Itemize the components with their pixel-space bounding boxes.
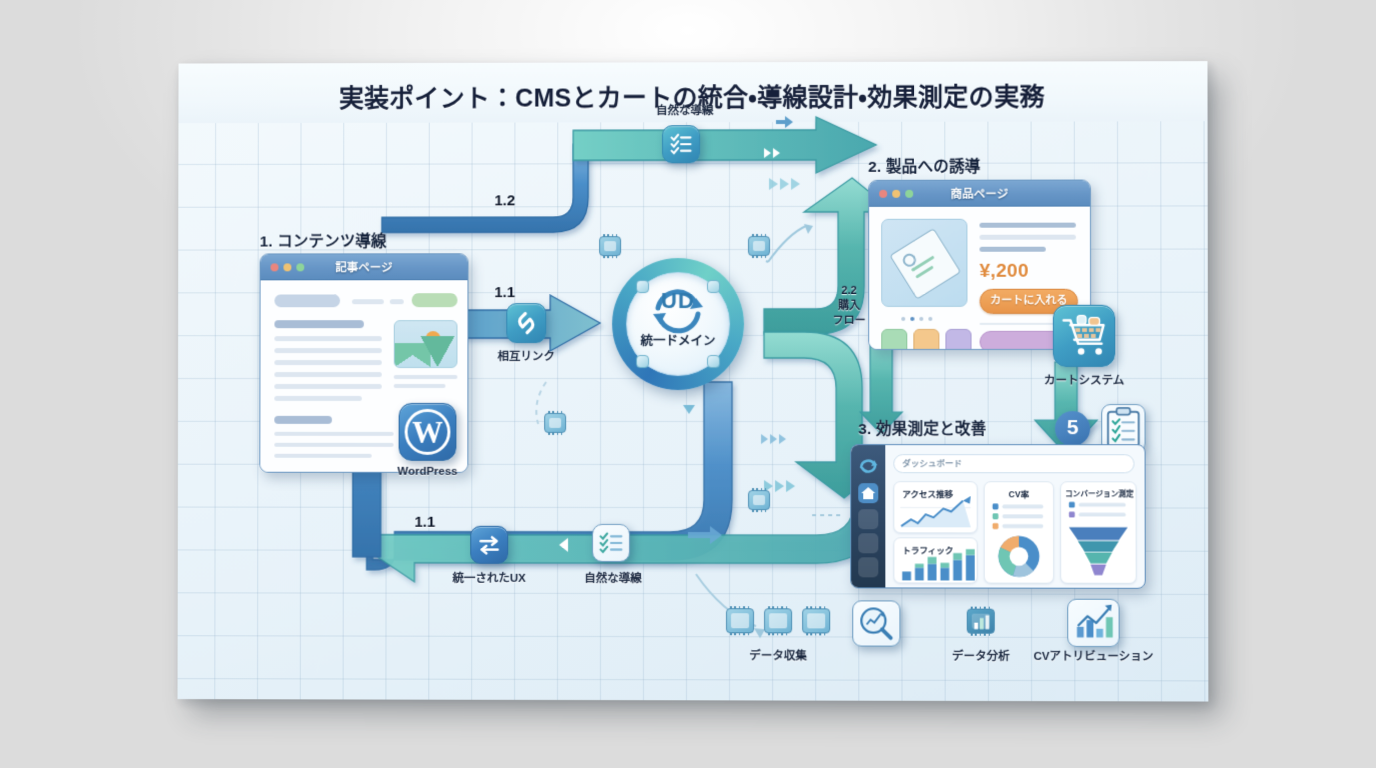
chip-icon-collect-1	[726, 608, 754, 633]
article-image-placeholder	[394, 320, 458, 368]
shopping-cart-glyph	[1054, 306, 1114, 366]
connector-1-2-number: 1.2	[494, 192, 515, 209]
magnifier-chart-glyph	[853, 601, 899, 645]
product-window-title: 商品ページ	[869, 186, 1090, 202]
pipeline-label-collect: データ収集	[749, 647, 807, 663]
variant-swatch-orange[interactable]	[913, 329, 939, 350]
connector-2-2-line2: 購入	[827, 299, 871, 314]
search-analytics-icon[interactable]	[852, 600, 900, 646]
link-icon[interactable]	[506, 303, 546, 343]
sidebar-users-icon[interactable]	[858, 509, 878, 529]
chip-icon-decor-2	[748, 236, 770, 256]
sidebar-list-icon[interactable]	[858, 533, 878, 553]
refresh-icon[interactable]	[851, 451, 885, 481]
analytics-dashboard[interactable]: ダッシュボード アクセス推移 トラフィック	[850, 444, 1146, 589]
chip-icon-collect-2	[764, 608, 792, 633]
swap-icon[interactable]	[470, 526, 508, 564]
connector-bottom-1-1-number: 1.1	[414, 514, 435, 531]
chip-icon-analysis	[967, 609, 995, 634]
article-window-titlebar: 記事ページ	[261, 254, 468, 280]
sidebar-settings-icon[interactable]	[858, 557, 878, 577]
connector-unified-ux-label: 統一されたUX	[453, 570, 526, 586]
product-window-titlebar: 商品ページ	[869, 181, 1090, 207]
donut-chart	[985, 482, 1053, 581]
product-price: ¥,200	[979, 261, 1028, 283]
price-tag-glyph	[889, 228, 961, 300]
flow-top-label: 自然な導線	[656, 102, 713, 118]
product-image-tag	[881, 219, 967, 307]
card-cv-rate[interactable]: CV率	[984, 481, 1054, 583]
dashboard-search-input[interactable]: ダッシュボード	[893, 454, 1134, 473]
unified-domain-hub[interactable]: UD 統一ドメイン	[612, 258, 744, 390]
bar-chart-glyph	[968, 610, 994, 633]
section-2-heading: 2. 製品への誘導	[868, 155, 980, 177]
flow-bottom-label: 自然な導線	[584, 570, 641, 586]
chip-icon-decor-4	[748, 490, 770, 510]
chip-icon-decor-3	[544, 413, 566, 433]
cv-attribution-icon[interactable]	[1067, 599, 1119, 647]
card-traffic[interactable]: トラフィック	[893, 537, 977, 583]
checklist-icon-bottom[interactable]	[592, 524, 630, 562]
pipeline-label-attribution: CVアトリビューション	[1033, 648, 1153, 664]
checklist-glyph	[593, 525, 629, 561]
article-window-title: 記事ページ	[261, 259, 468, 275]
connector-2-2-label: 2.2 購入 フロー	[827, 284, 871, 329]
chip-icon-collect-3	[802, 608, 830, 633]
trend-up-glyph	[1068, 600, 1118, 646]
variant-swatch-green[interactable]	[881, 329, 907, 350]
link-glyph	[507, 304, 545, 342]
checklist-icon-top[interactable]	[662, 125, 700, 163]
hub-glyph: UD	[612, 288, 744, 314]
connector-1-1-number: 1.1	[494, 284, 515, 301]
wordpress-icon[interactable]: W	[399, 403, 457, 461]
home-glyph	[858, 483, 878, 503]
sidebar-home-icon[interactable]	[858, 483, 878, 503]
section-1-heading: 1. コンテンツ導線	[260, 229, 387, 251]
variant-swatch-purple[interactable]	[945, 329, 971, 350]
card-access-trend[interactable]: アクセス推移	[893, 481, 977, 533]
dashboard-sidebar	[851, 445, 885, 587]
line-chart	[894, 482, 976, 533]
card-conversion-measure[interactable]: コンバージョン測定	[1060, 481, 1137, 583]
funnel-chart	[1061, 482, 1136, 582]
chip-icon-decor-1	[599, 236, 621, 256]
connector-2-2-number: 2.2	[827, 284, 871, 299]
diagram-canvas: 実装ポイント：CMSとカートの統合・導線設計・効果測定の実務	[178, 61, 1209, 701]
section-3-heading: 3. 効果測定と改善	[858, 417, 986, 439]
sync-arrows-icon	[612, 258, 744, 390]
swap-glyph	[471, 527, 507, 563]
checklist-glyph	[663, 126, 699, 162]
cart-system-label: カートシステム	[1044, 372, 1125, 388]
wordpress-glyph: W	[405, 409, 451, 455]
connector-2-2-line3: フロー	[827, 314, 871, 329]
cart-system-icon[interactable]	[1053, 305, 1115, 367]
step-badge-5: 5	[1055, 411, 1090, 446]
pipeline-label-analysis: データ分析	[952, 648, 1010, 664]
bar-chart	[894, 538, 976, 583]
hub-label: 統一ドメイン	[612, 330, 744, 349]
connector-1-1-label: 相互リンク	[498, 348, 555, 364]
wordpress-label: WordPress	[397, 466, 457, 478]
